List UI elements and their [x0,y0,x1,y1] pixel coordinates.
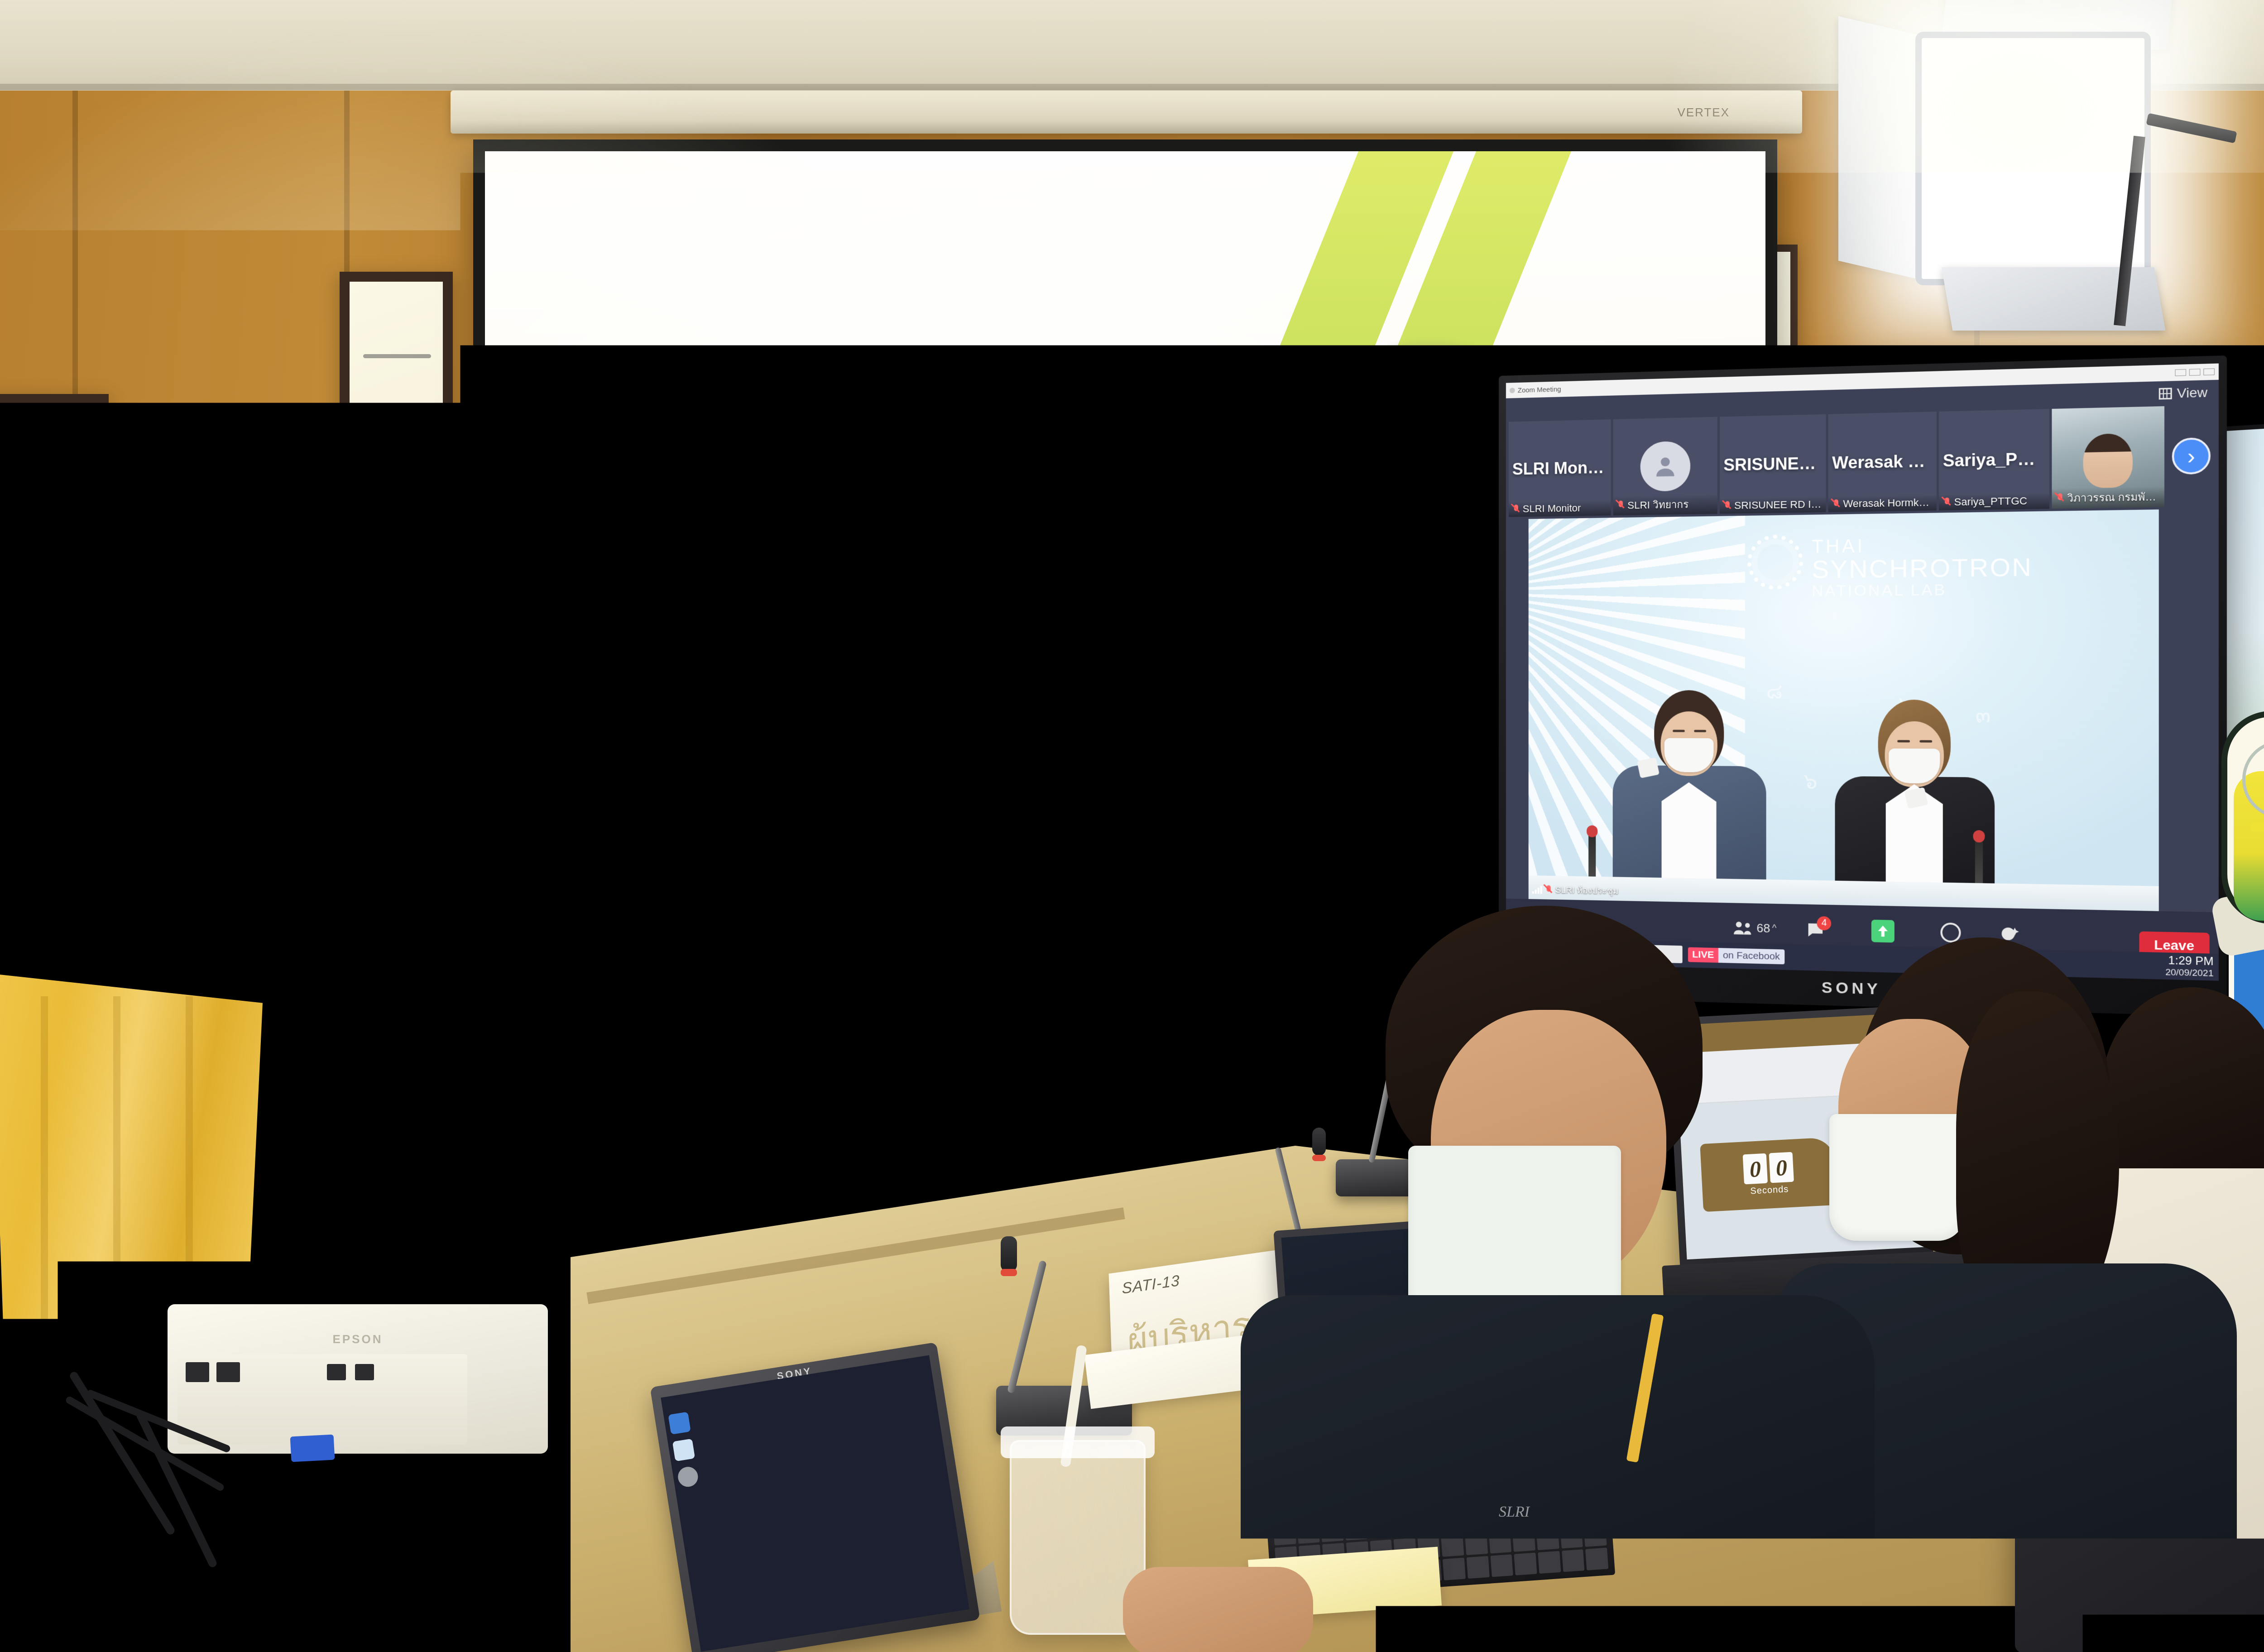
decorative-glyph: ๘ [1766,675,1783,709]
participant-thumbnail[interactable]: SLRI Monitor SLRI Monitor [1509,419,1611,517]
microphone-muted-icon [2056,493,2064,504]
participant-thumbnail[interactable]: วิภาวรรณ กรมพัฒนาที่ดิน [2052,406,2164,509]
participant-footer: SLRI Monitor [1509,500,1611,517]
next-page-button[interactable]: › [2167,405,2216,507]
led-panel-light [1834,0,2241,340]
participant-name: วิภาวรรณ กรมพัฒนาที่ดิน [2067,488,2160,506]
organization-logo: THAI SYNCHROTRON NATIONAL LAB [1747,531,2033,600]
lan-port [186,1362,209,1382]
light-panel-surface [1915,32,2151,285]
zoom-meeting-window: Zoom Meeting View [1506,363,2219,980]
participant-display-name: Werasak Hormk... [1828,451,1937,473]
presenter-head [1654,690,1724,773]
org-name-line3: NATIONAL LAB [1812,581,2033,600]
grid-icon[interactable] [2159,388,2172,399]
projector-port-panel [177,1354,467,1445]
participant-thumbnail[interactable]: SLRI วิทยากร [1613,417,1717,515]
mascot-blush [2250,822,2264,832]
gear-icon[interactable] [676,1465,699,1488]
eye [1897,740,1910,742]
participants-filmstrip: SLRI Monitor SLRI Monitor [1506,405,2219,519]
participant-name: SLRI Monitor [1523,502,1581,515]
vga-connector [290,1435,335,1462]
chevron-right-icon: › [2172,437,2211,475]
usb-port [327,1364,346,1380]
participant-name: SRISUNEE RD IRC 2179 [1734,498,1822,512]
tablet-body: SONY [650,1342,980,1652]
participant-name: Werasak Hormkajai [1843,496,1933,510]
participant-footer: Sariya_PTTGC [1939,493,2049,510]
close-button[interactable] [2203,368,2215,375]
stage-label-text: SLRI ห้องประชุม [1555,883,1619,898]
synchrotron-mark-icon [1747,534,1803,590]
microphone-muted-icon [1723,500,1732,511]
slide-title: Industrial Materials Applications [571,581,1380,640]
eye [1694,730,1706,732]
projector-brand-label: EPSON [332,1332,383,1346]
microphone-muted-icon [1512,504,1520,514]
drape-fold [113,996,120,1440]
participant-footer: SRISUNEE RD IRC 2179 [1720,496,1826,514]
app-icon-blue[interactable] [668,1412,691,1434]
microphone-muted-icon [1943,497,1951,508]
zoom-window-title: Zoom Meeting [1518,385,1561,394]
presenter-head [1878,700,1951,785]
name-badge [1637,757,1660,778]
participant-name: SLRI วิทยากร [1627,496,1688,514]
participant-footer: SLRI วิทยากร [1613,494,1717,515]
zoom-active-speaker-stage[interactable]: THAI SYNCHROTRON NATIONAL LAB ๑ ๘ ๒ ๓ ๘ … [1506,509,2219,912]
whiteboard-left [0,394,109,951]
face-mask [1664,738,1713,773]
whiteboard-second [340,272,453,752]
participant-thumbnail[interactable]: Sariya_PTTGC Sariya_PTTGC [1939,409,2049,510]
hand [1123,1567,1313,1652]
app-icon-light[interactable] [672,1439,695,1461]
mic-capsule [1001,1236,1017,1272]
light-arm [2146,113,2237,143]
mascot-head [2221,711,2264,924]
minimize-button[interactable] [2175,369,2186,376]
app-icon [1510,388,1515,393]
usb-port [355,1364,374,1380]
presenter-right [1835,700,1995,908]
stage-overlay-label: SLRI ห้องประชุม [1532,883,1619,898]
person-icon [1652,453,1679,480]
name-card-code: SATI-13 [1122,1272,1180,1298]
eye [1673,730,1685,732]
view-button[interactable]: View [2177,385,2207,401]
tv-screen: Zoom Meeting View [1506,363,2219,980]
participant-display-name: SRISUNEE RD I... [1720,453,1826,475]
participant-footer: วิภาวรรณ กรมพัฒนาที่ดิน [2052,486,2164,509]
cup-lid [1001,1426,1155,1458]
participant-display-name: Sariya_PTTGC [1939,449,2049,471]
screen-housing: VERTEX [451,91,1802,134]
microphone-muted-icon [1832,499,1840,509]
participant-footer: Werasak Hormkajai [1828,495,1937,512]
screen-brand-label: VERTEX [1677,106,1730,120]
org-name-line2: SYNCHROTRON [1812,554,2033,583]
participant-thumbnail[interactable]: SRISUNEE RD I... SRISUNEE RD IRC 2179 [1720,414,1826,514]
stage-video-feed: THAI SYNCHROTRON NATIONAL LAB ๑ ๘ ๒ ๓ ๘ … [1529,509,2159,911]
participant-thumbnail[interactable]: Werasak Hormk... Werasak Hormkajai [1828,412,1937,512]
maximize-button[interactable] [2189,369,2201,376]
face-mask [1889,749,1940,784]
hdmi-port [216,1362,240,1382]
sony-tablet[interactable]: SONY [650,1342,980,1652]
eye [1919,740,1932,742]
epson-projector: EPSON [168,1304,548,1454]
drape-fold [41,996,48,1440]
signal-icon [1532,885,1542,893]
mic-indicator-ring [1001,1269,1017,1276]
tablet-app-icons [668,1412,699,1488]
participant-name: Sariya_PTTGC [1954,495,2027,509]
attendee-hand [1123,1540,1494,1652]
barn-door-bottom [1942,267,2166,331]
microphone-muted-icon [1617,500,1625,511]
microphone-muted-icon [1545,884,1553,895]
tablet-screen[interactable] [661,1355,969,1652]
decorative-glyph: ๖ [1804,764,1818,798]
presenter-left [1612,690,1766,903]
conference-room-scene: VERTEX Industrial Materials Applications [0,0,2264,1652]
name-badge [1904,787,1928,808]
shirt-logo: SLRI [1499,1503,1530,1521]
avatar [1640,441,1690,492]
participant-display-name: SLRI Monitor [1509,458,1611,479]
